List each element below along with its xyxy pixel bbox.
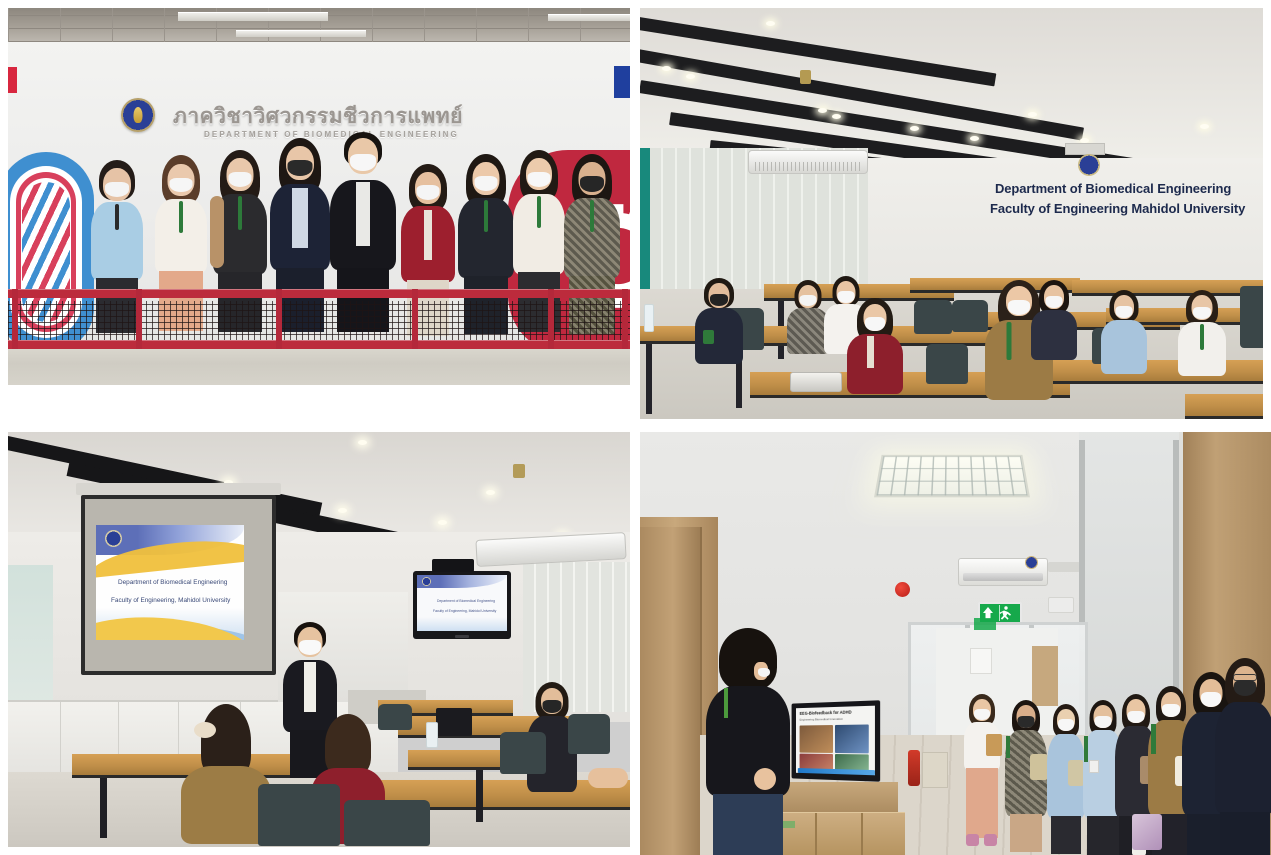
fire-extinguisher <box>908 750 920 786</box>
slide-line2: Faculty of Engineering, Mahidol Universi… <box>111 597 230 604</box>
classroom-chair <box>914 300 952 334</box>
office-chair <box>568 714 610 754</box>
wall-sign-thai: ภาควิชาวิศวกรรมชีวการแพทย์ <box>173 100 463 133</box>
ac-pipe <box>1048 562 1080 572</box>
wall-text-line2: Faculty of Engineering Mahidol Universit… <box>990 201 1245 216</box>
ceiling-spot-light <box>338 508 347 513</box>
ceiling-spot-light <box>358 440 367 445</box>
tv-logo <box>455 635 469 638</box>
person-seated <box>1098 290 1150 374</box>
wall-box <box>922 752 948 788</box>
tv-slide-subtitle: Engineering Biomedical Innovation <box>800 717 843 722</box>
ceiling-spot-light <box>910 126 919 131</box>
photo-presentation[interactable]: Department of Biomedical Engineering Fac… <box>8 432 630 847</box>
table-leg <box>100 778 107 838</box>
ceiling-light-strip <box>178 12 328 21</box>
mahidol-emblem-icon <box>1025 556 1038 569</box>
ceiling-spot-light <box>1200 124 1209 129</box>
corridor-notice <box>970 648 992 674</box>
office-chair <box>500 732 546 774</box>
slide-content: Department of Biomedical Engineering Fac… <box>96 525 244 640</box>
photo-collage: ภาควิชาวิศวกรรมชีวการแพทย์ DEPARTMENT OF… <box>0 0 1271 855</box>
hands <box>588 768 628 788</box>
monitor-line2: Faculty of Engineering, Mahidol Universi… <box>433 609 496 613</box>
wall-sensor <box>1048 597 1074 613</box>
demo-tv[interactable]: EEG-Biofeedback for ADHD Engineering Bio… <box>792 700 881 781</box>
office-chair <box>258 784 340 846</box>
computer-monitor <box>436 708 472 736</box>
cardboard-boxes <box>775 812 905 855</box>
hand <box>754 768 776 790</box>
ceiling-light-strip-3 <box>548 14 630 21</box>
slide-line1: Department of Biomedical Engineering <box>118 579 227 586</box>
lanyard <box>724 688 728 718</box>
floor <box>8 349 630 385</box>
wall-air-conditioner <box>748 150 868 174</box>
shopping-bag <box>1132 814 1162 850</box>
ceiling-fluorescent-panel <box>874 455 1030 498</box>
corridor-exit-sign <box>974 618 996 630</box>
wall-edge-blue <box>614 66 630 98</box>
stacked-chairs <box>1240 286 1263 348</box>
window-frame <box>640 148 650 293</box>
photo-hallway-demo[interactable]: EEG-Biofeedback for ADHD Engineering Bio… <box>640 432 1271 855</box>
wall-edge-red <box>8 67 17 93</box>
office-chair <box>344 800 430 846</box>
person-seated <box>692 278 746 368</box>
ceiling-vent <box>1065 143 1105 155</box>
slide-footer-bar <box>798 768 875 775</box>
office-chair <box>378 704 412 730</box>
handbag <box>986 734 1002 756</box>
projector <box>790 372 842 392</box>
balcony-railing <box>8 289 630 351</box>
monitor-line1: Department of Biomedical Engineering <box>437 599 495 603</box>
ceiling-light-strip-2 <box>236 30 366 37</box>
ceiling-spot-light <box>662 66 671 71</box>
shoe <box>966 834 979 846</box>
face-mask <box>758 668 770 677</box>
ceiling <box>640 8 1263 158</box>
classroom-chair <box>926 344 968 384</box>
fire-alarm-bell <box>895 582 910 597</box>
shoe <box>984 834 997 846</box>
ceiling-spot-light <box>970 136 979 141</box>
tv-stand <box>780 782 898 816</box>
ceiling-spot-light <box>486 490 495 495</box>
ceiling-tiles <box>8 8 630 42</box>
mahidol-emblem-icon <box>1078 154 1100 176</box>
ceiling-spot-light <box>818 108 827 113</box>
ceiling-speaker <box>513 464 525 478</box>
person-visitor <box>1214 658 1271 855</box>
person-seated <box>1175 290 1229 376</box>
wall-mounted-tv: Department of Biomedical Engineering Fac… <box>413 571 511 639</box>
photo-group-portrait[interactable]: ภาควิชาวิศวกรรมชีวการแพทย์ DEPARTMENT OF… <box>8 8 630 385</box>
desk-leg <box>646 344 652 414</box>
sanitizer-bottle <box>426 722 438 748</box>
ceiling-spot-light <box>832 114 841 119</box>
hair-clip <box>194 722 216 738</box>
tv-slide-title: EEG-Biofeedback for ADHD <box>800 709 852 715</box>
slide-photo <box>835 724 869 753</box>
sanitizer-bottle <box>644 304 654 332</box>
projection-screen: Department of Biomedical Engineering Fac… <box>81 495 276 675</box>
glass-partition <box>8 565 53 715</box>
ceiling-speaker <box>800 70 811 84</box>
corridor-door <box>1032 646 1058 706</box>
person-presenter <box>702 628 794 855</box>
photo-classroom-seated[interactable]: Department of Biomedical Engineering Fac… <box>640 8 1263 419</box>
tv-mount <box>432 559 474 572</box>
table-leg <box>476 770 483 822</box>
ceiling-spot-light <box>766 21 775 26</box>
classroom-desk-front <box>1185 394 1263 419</box>
person-seated <box>844 298 906 394</box>
lanyard <box>1006 736 1010 758</box>
wooden-door-panel[interactable] <box>640 527 702 855</box>
person-seated <box>1028 280 1080 360</box>
ceiling-spot-light <box>686 74 695 79</box>
screen-roller <box>76 483 281 495</box>
person-visitor <box>960 694 1004 846</box>
ceiling-spot-light <box>438 520 447 525</box>
lanyard <box>1151 724 1156 754</box>
lanyard <box>1084 736 1088 762</box>
wall-text-line1: Department of Biomedical Engineering <box>995 181 1231 196</box>
ceiling-spot-light <box>1028 112 1037 117</box>
slide-photo <box>800 725 833 753</box>
mahidol-emblem-icon <box>121 98 155 132</box>
id-badge <box>1089 760 1099 773</box>
person-visitor <box>1002 700 1050 852</box>
